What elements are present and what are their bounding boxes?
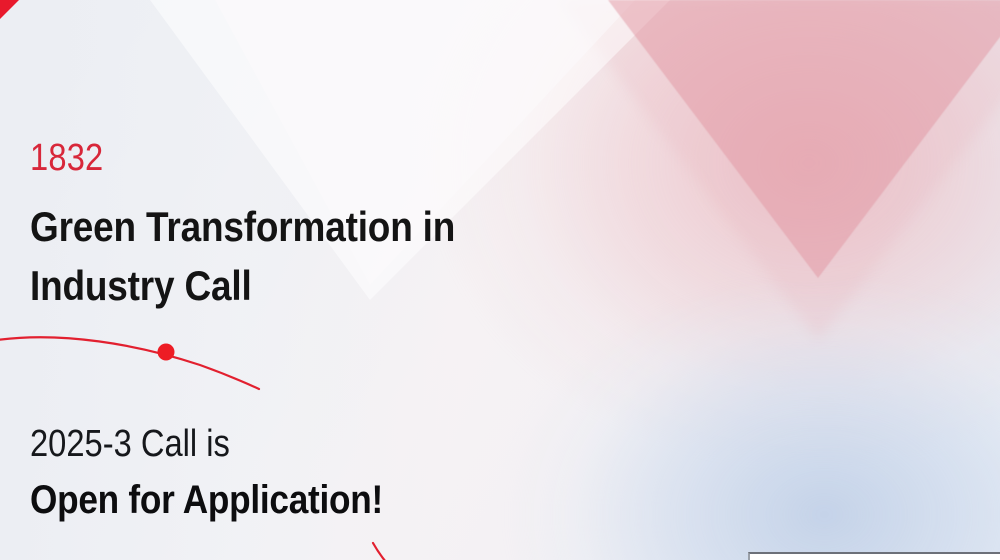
promo-banner: 1832 Green Transformation in Industry Ca… (0, 0, 1000, 560)
red-corner-triangle-icon (0, 0, 19, 19)
call-period-label: 2025-3 Call is (30, 425, 230, 463)
banner-text-block: 1832 Green Transformation in Industry Ca… (30, 0, 730, 560)
banner-headline: Green Transformation in Industry Call (30, 198, 455, 316)
call-status-label: Open for Application! (30, 480, 383, 520)
panel-top-edge (748, 552, 1000, 560)
program-number: 1832 (30, 139, 103, 177)
